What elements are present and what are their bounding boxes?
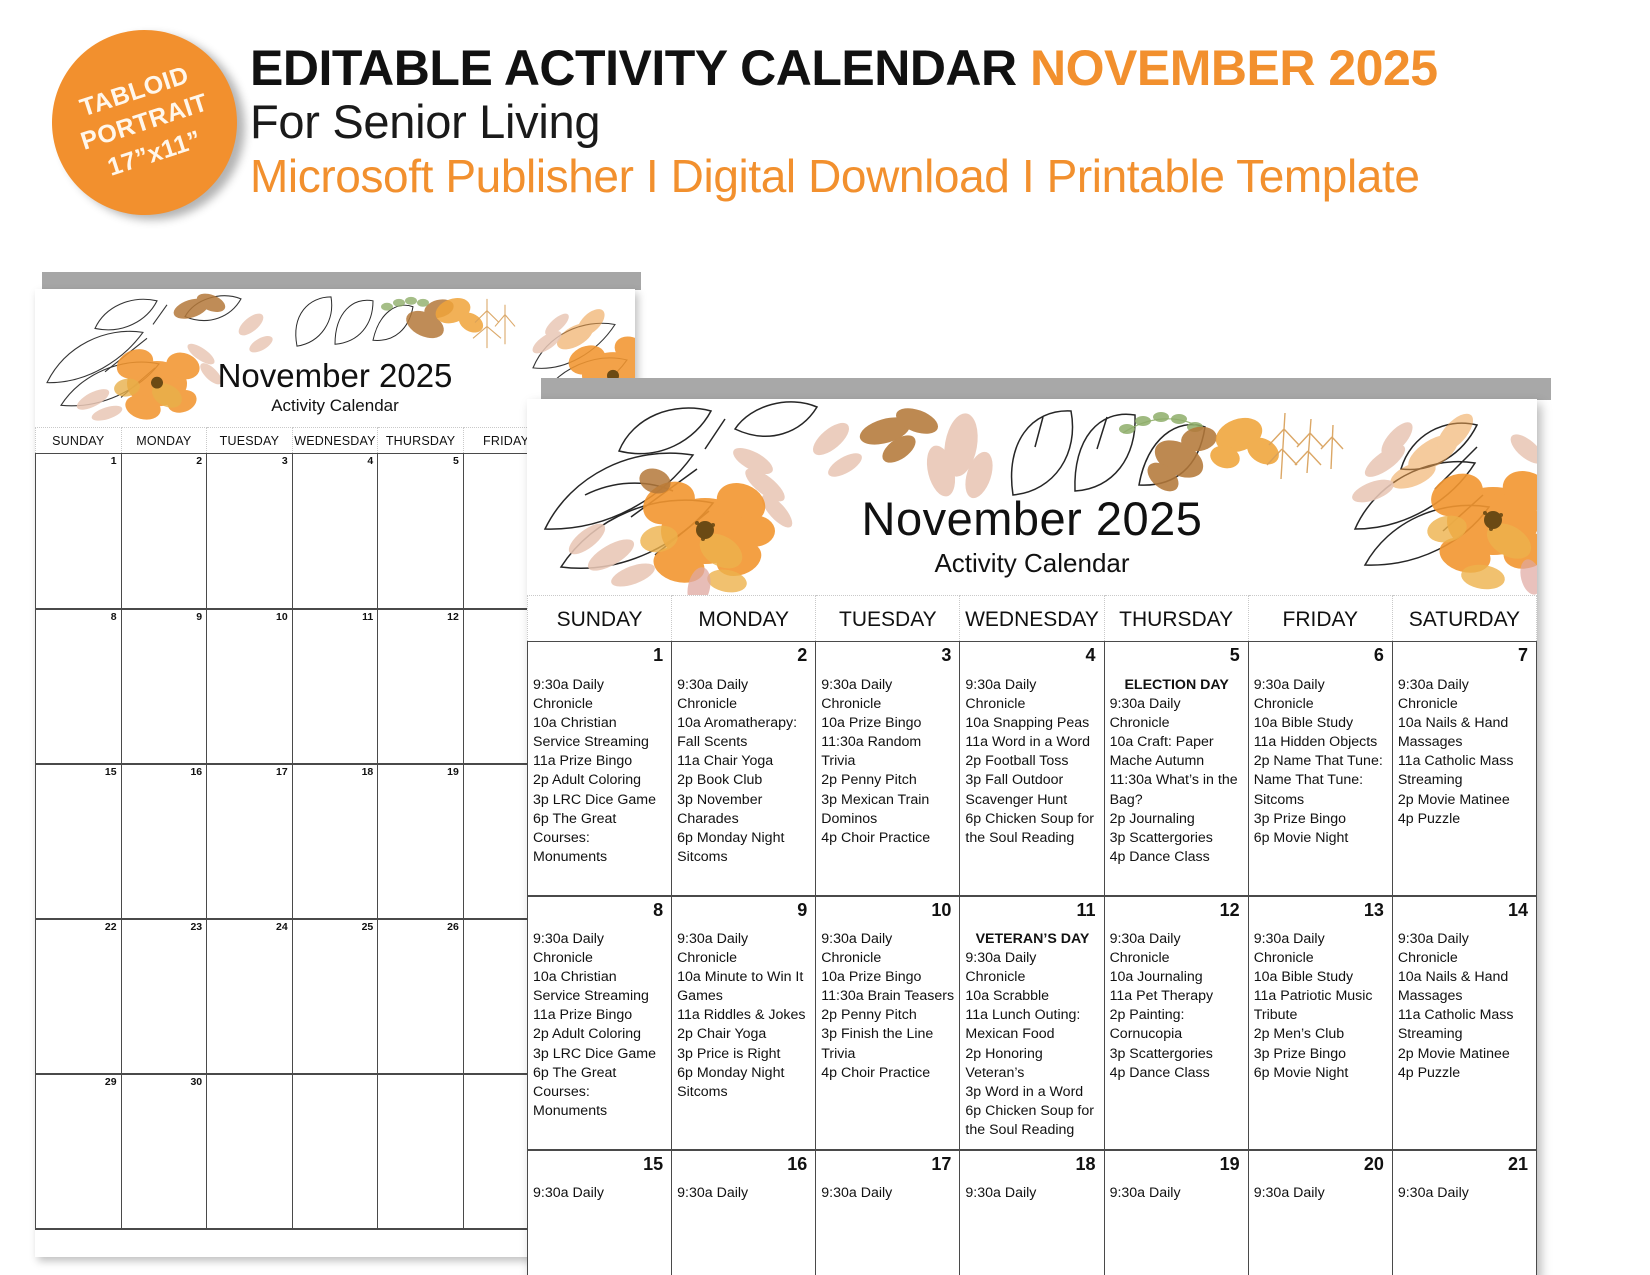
activity-entry[interactable]: 11a Patriotic Music Tribute [1254, 987, 1388, 1025]
activity-entry[interactable]: 2p Painting: Cornucopia [1110, 1006, 1244, 1044]
activity-entry[interactable]: 11a Prize Bingo [533, 1006, 667, 1025]
activity-entry[interactable]: 2p Chair Yoga [677, 1025, 811, 1044]
activity-entry[interactable]: 11a Prize Bingo [533, 752, 667, 771]
back-day-number: 19 [378, 764, 464, 781]
activity-entry[interactable]: 9:30a Daily [677, 1184, 811, 1203]
week-number-row: 1234567 [528, 642, 1537, 672]
back-day-number: 26 [378, 919, 464, 936]
activity-entry[interactable]: 3p November Charades [677, 791, 811, 829]
activity-entry[interactable]: 4p Puzzle [1398, 1064, 1532, 1083]
activity-entry[interactable]: 4p Choir Practice [821, 829, 955, 848]
back-day-number: 12 [378, 609, 464, 626]
back-weekday-tuesday: TUESDAY [207, 428, 293, 454]
day-cell-5[interactable]: ELECTION DAY9:30a Daily Chronicle10a Cra… [1104, 672, 1248, 896]
activity-entry[interactable]: 9:30a Daily [1254, 1184, 1388, 1203]
holiday-label: VETERAN’S DAY [965, 930, 1099, 949]
activity-entry[interactable]: 3p Word in a Word [965, 1083, 1099, 1102]
activity-entry[interactable]: 9:30a Daily Chronicle [965, 676, 1099, 714]
activity-entry[interactable]: 2p Book Club [677, 771, 811, 790]
promo-banner: TABLOID PORTRAIT 17”x11” EDITABLE ACTIVI… [0, 0, 1650, 245]
day-number-6: 6 [1248, 642, 1392, 672]
back-day-number: 11 [292, 609, 378, 626]
activity-entry[interactable]: 10a Nails & Hand Massages [1398, 714, 1532, 752]
activity-entry[interactable]: 3p LRC Dice Game [533, 1045, 667, 1064]
activity-entry[interactable]: 9:30a Daily [1398, 1184, 1532, 1203]
day-cell-20[interactable]: 9:30a Daily [1248, 1180, 1392, 1275]
activity-entry[interactable]: 9:30a Daily [1110, 1184, 1244, 1203]
day-cell-16[interactable]: 9:30a Daily [672, 1180, 816, 1275]
day-number-10: 10 [816, 896, 960, 926]
weekday-wednesday: WEDNESDAY [960, 596, 1104, 642]
activity-entry[interactable]: 4p Dance Class [1110, 1064, 1244, 1083]
weekday-sunday: SUNDAY [528, 596, 672, 642]
activity-entry[interactable]: 2p Journaling [1110, 810, 1244, 829]
activity-entry[interactable]: 2p Football Toss [965, 752, 1099, 771]
week-body-row: 9:30a Daily Chronicle10a Christian Servi… [528, 926, 1537, 1150]
activity-entry[interactable]: 6p The Great Courses: Monuments [533, 1064, 667, 1122]
weekday-thursday: THURSDAY [1104, 596, 1248, 642]
activity-entry[interactable]: 3p Fall Outdoor Scavenger Hunt [965, 771, 1099, 809]
day-cell-14[interactable]: 9:30a Daily Chronicle10a Nails & Hand Ma… [1392, 926, 1536, 1150]
back-day-cell[interactable] [36, 471, 122, 609]
activity-entry[interactable]: 9:30a Daily [533, 1184, 667, 1203]
activity-entry[interactable]: 6p Monday Night Sitcoms [677, 1064, 811, 1102]
activity-calendar-grid: SUNDAYMONDAYTUESDAYWEDNESDAYTHURSDAYFRID… [527, 595, 1537, 1275]
holiday-label: ELECTION DAY [1110, 676, 1244, 695]
day-number-7: 7 [1392, 642, 1536, 672]
day-cell-19[interactable]: 9:30a Daily [1104, 1180, 1248, 1275]
activity-entry[interactable]: 11:30a Brain Teasers [821, 987, 955, 1006]
day-cell-9[interactable]: 9:30a Daily Chronicle10a Minute to Win I… [672, 926, 816, 1150]
day-cell-10[interactable]: 9:30a Daily Chronicle10a Prize Bingo11:3… [816, 926, 960, 1150]
activity-entry[interactable]: 9:30a Daily Chronicle [1398, 676, 1532, 714]
back-day-cell[interactable] [121, 1091, 207, 1229]
activity-entry[interactable]: 3p Prize Bingo [1254, 810, 1388, 829]
activity-entry[interactable]: 6p Movie Night [1254, 1064, 1388, 1083]
day-cell-11[interactable]: VETERAN’S DAY9:30a Daily Chronicle10a Sc… [960, 926, 1104, 1150]
back-day-cell[interactable] [378, 936, 464, 1074]
main-page-top-edge-shade [541, 378, 1551, 400]
back-day-cell[interactable] [292, 626, 378, 764]
activity-entry[interactable]: 3p Scattergories [1110, 829, 1244, 848]
day-number-16: 16 [672, 1150, 816, 1180]
promo-subtitle: For Senior Living [250, 95, 1640, 150]
activity-entry[interactable]: 3p Mexican Train Dominos [821, 791, 955, 829]
week-body-row: 9:30a Daily Chronicle10a Christian Servi… [528, 672, 1537, 896]
day-number-17: 17 [816, 1150, 960, 1180]
activity-entry[interactable]: 10a Bible Study [1254, 714, 1388, 733]
activity-entry[interactable]: 9:30a Daily Chronicle [1110, 930, 1244, 968]
activity-entry[interactable]: 2p Honoring Veteran’s [965, 1045, 1099, 1083]
activity-entry[interactable]: 9:30a Daily Chronicle [1254, 676, 1388, 714]
day-cell-4[interactable]: 9:30a Daily Chronicle10a Snapping Peas11… [960, 672, 1104, 896]
day-cell-8[interactable]: 9:30a Daily Chronicle10a Christian Servi… [528, 926, 672, 1150]
activity-entry[interactable]: 2p Name That Tune: Name That Tune: Sitco… [1254, 752, 1388, 810]
day-cell-13[interactable]: 9:30a Daily Chronicle10a Bible Study11a … [1248, 926, 1392, 1150]
weekday-friday: FRIDAY [1248, 596, 1392, 642]
back-day-cell[interactable] [36, 626, 122, 764]
activity-entry[interactable]: 2p Movie Matinee [1398, 1045, 1532, 1064]
format-badge: TABLOID PORTRAIT 17”x11” [28, 6, 261, 239]
back-day-cell[interactable] [378, 471, 464, 609]
activity-entry[interactable]: 10a Craft: Paper Mache Autumn [1110, 733, 1244, 771]
activity-entry[interactable]: 10a Nails & Hand Massages [1398, 968, 1532, 1006]
activity-entry[interactable]: 6p Chicken Soup for the Soul Reading [965, 1102, 1099, 1140]
day-number-3: 3 [816, 642, 960, 672]
activity-entry[interactable]: 9:30a Daily Chronicle [821, 930, 955, 968]
activity-entry[interactable]: 6p Chicken Soup for the Soul Reading [965, 810, 1099, 848]
weekday-saturday: SATURDAY [1392, 596, 1536, 642]
activity-entry[interactable]: 2p Adult Coloring [533, 1025, 667, 1044]
activity-entry[interactable]: 10a Minute to Win It Games [677, 968, 811, 1006]
activity-entry[interactable]: 11a Pet Therapy [1110, 987, 1244, 1006]
promo-title-dark: EDITABLE ACTIVITY CALENDAR [250, 40, 1017, 96]
activity-entry[interactable]: 9:30a Daily [965, 1184, 1099, 1203]
back-day-cell[interactable] [207, 781, 293, 919]
week-number-row: 15161718192021 [528, 1150, 1537, 1180]
activity-entry[interactable]: 11a Word in a Word [965, 733, 1099, 752]
back-day-number: 17 [207, 764, 293, 781]
activity-entry[interactable]: 10a Christian Service Streaming [533, 968, 667, 1006]
weekday-monday: MONDAY [672, 596, 816, 642]
day-number-20: 20 [1248, 1150, 1392, 1180]
back-day-number: 4 [292, 454, 378, 471]
floral-header-band-front: November 2025 Activity Calendar [527, 399, 1537, 595]
activity-entry[interactable]: 2p Penny Pitch [821, 771, 955, 790]
activity-entry[interactable]: 9:30a Daily [821, 1184, 955, 1203]
day-number-1: 1 [528, 642, 672, 672]
back-day-number: 30 [121, 1074, 207, 1091]
back-day-cell[interactable] [292, 781, 378, 919]
back-day-cell[interactable] [36, 936, 122, 1074]
day-number-11: 11 [960, 896, 1104, 926]
day-cell-2[interactable]: 9:30a Daily Chronicle10a Aromatherapy: F… [672, 672, 816, 896]
back-day-number: 5 [378, 454, 464, 471]
activity-entry[interactable]: 9:30a Daily Chronicle [1398, 930, 1532, 968]
activity-entry[interactable]: 10a Journaling [1110, 968, 1244, 987]
activity-entry[interactable]: 11a Lunch Outing: Mexican Food [965, 1006, 1099, 1044]
day-cell-1[interactable]: 9:30a Daily Chronicle10a Christian Servi… [528, 672, 672, 896]
day-number-4: 4 [960, 642, 1104, 672]
activity-entry[interactable]: 4p Dance Class [1110, 848, 1244, 867]
activity-entry[interactable]: 10a Prize Bingo [821, 968, 955, 987]
back-day-number [292, 1074, 378, 1091]
activity-entry[interactable]: 3p Finish the Line Trivia [821, 1025, 955, 1063]
day-number-5: 5 [1104, 642, 1248, 672]
day-number-15: 15 [528, 1150, 672, 1180]
back-day-cell[interactable] [207, 626, 293, 764]
activity-entry[interactable]: 10a Aromatherapy: Fall Scents [677, 714, 811, 752]
activity-entry[interactable]: 2p Adult Coloring [533, 771, 667, 790]
day-cell-17[interactable]: 9:30a Daily [816, 1180, 960, 1275]
activity-entry[interactable]: 4p Choir Practice [821, 1064, 955, 1083]
activity-entry[interactable]: 11a Hidden Objects [1254, 733, 1388, 752]
back-day-number [378, 1074, 464, 1091]
back-day-number: 1 [36, 454, 122, 471]
back-day-number: 22 [36, 919, 122, 936]
floral-artwork-front [527, 399, 1537, 595]
main-calendar-page: November 2025 Activity Calendar SUNDAYMO… [527, 378, 1552, 1275]
back-day-cell[interactable] [207, 471, 293, 609]
back-day-number: 23 [121, 919, 207, 936]
activity-entry[interactable]: 11a Riddles & Jokes [677, 1006, 811, 1025]
back-day-cell[interactable] [121, 626, 207, 764]
back-day-cell[interactable] [207, 1091, 293, 1229]
back-day-cell[interactable] [378, 626, 464, 764]
day-cell-15[interactable]: 9:30a Daily [528, 1180, 672, 1275]
back-day-cell[interactable] [121, 781, 207, 919]
back-day-number: 15 [36, 764, 122, 781]
day-cell-18[interactable]: 9:30a Daily [960, 1180, 1104, 1275]
back-day-cell[interactable] [36, 1091, 122, 1229]
activity-entry[interactable]: 3p LRC Dice Game [533, 791, 667, 810]
back-day-cell[interactable] [121, 471, 207, 609]
activity-entry[interactable]: 6p Movie Night [1254, 829, 1388, 848]
activity-entry[interactable]: 10a Scrabble [965, 987, 1099, 1006]
activity-entry[interactable]: 2p Movie Matinee [1398, 791, 1532, 810]
back-weekday-wednesday: WEDNESDAY [292, 428, 378, 454]
activity-entry[interactable]: 11a Chair Yoga [677, 752, 811, 771]
weekday-tuesday: TUESDAY [816, 596, 960, 642]
back-day-number: 2 [121, 454, 207, 471]
activity-entry[interactable]: 9:30a Daily Chronicle [533, 676, 667, 714]
promo-title-accent: NOVEMBER 2025 [1030, 40, 1438, 96]
back-day-number: 29 [36, 1074, 122, 1091]
activity-entry[interactable]: 11a Catholic Mass Streaming [1398, 752, 1532, 790]
day-number-19: 19 [1104, 1150, 1248, 1180]
activity-entry[interactable]: 9:30a Daily Chronicle [677, 930, 811, 968]
activity-entry[interactable]: 3p Price is Right [677, 1045, 811, 1064]
main-calendar-sheet: November 2025 Activity Calendar SUNDAYMO… [527, 399, 1537, 1275]
activity-entry[interactable]: 9:30a Daily Chronicle [821, 676, 955, 714]
activity-entry[interactable]: 10a Christian Service Streaming [533, 714, 667, 752]
activity-entry[interactable]: 11a Catholic Mass Streaming [1398, 1006, 1532, 1044]
activity-entry[interactable]: 9:30a Daily Chronicle [677, 676, 811, 714]
day-number-13: 13 [1248, 896, 1392, 926]
back-day-number: 3 [207, 454, 293, 471]
activity-entry[interactable]: 11:30a What’s in the Bag? [1110, 771, 1244, 809]
back-weekday-thursday: THURSDAY [378, 428, 464, 454]
activity-entry[interactable]: 9:30a Daily Chronicle [965, 949, 1099, 987]
day-number-18: 18 [960, 1150, 1104, 1180]
day-number-12: 12 [1104, 896, 1248, 926]
activity-entry[interactable]: 3p Scattergories [1110, 1045, 1244, 1064]
day-number-14: 14 [1392, 896, 1536, 926]
day-number-8: 8 [528, 896, 672, 926]
activity-entry[interactable]: 6p Monday Night Sitcoms [677, 829, 811, 867]
day-cell-6[interactable]: 9:30a Daily Chronicle10a Bible Study11a … [1248, 672, 1392, 896]
back-weekday-monday: MONDAY [121, 428, 207, 454]
activity-entry[interactable]: 10a Bible Study [1254, 968, 1388, 987]
calendar-body: 12345679:30a Daily Chronicle10a Christia… [528, 642, 1537, 1275]
back-day-cell[interactable] [36, 781, 122, 919]
back-day-number: 10 [207, 609, 293, 626]
page-top-edge-shade [42, 272, 641, 290]
activity-entry[interactable]: 10a Prize Bingo [821, 714, 955, 733]
day-cell-21[interactable]: 9:30a Daily [1392, 1180, 1536, 1275]
back-day-cell[interactable] [292, 1091, 378, 1229]
week-body-row: 9:30a Daily9:30a Daily9:30a Daily9:30a D… [528, 1180, 1537, 1275]
back-day-number: 16 [121, 764, 207, 781]
day-number-9: 9 [672, 896, 816, 926]
activity-entry[interactable]: 9:30a Daily Chronicle [1110, 695, 1244, 733]
back-day-cell[interactable] [292, 471, 378, 609]
activity-entry[interactable]: 3p Prize Bingo [1254, 1045, 1388, 1064]
back-day-number: 18 [292, 764, 378, 781]
activity-entry[interactable]: 9:30a Daily Chronicle [1254, 930, 1388, 968]
day-cell-12[interactable]: 9:30a Daily Chronicle10a Journaling11a P… [1104, 926, 1248, 1150]
activity-entry[interactable]: 9:30a Daily Chronicle [533, 930, 667, 968]
activity-entry[interactable]: 2p Penny Pitch [821, 1006, 955, 1025]
activity-entry[interactable]: 6p The Great Courses: Monuments [533, 810, 667, 868]
back-day-number: 8 [36, 609, 122, 626]
back-day-number [207, 1074, 293, 1091]
day-cell-3[interactable]: 9:30a Daily Chronicle10a Prize Bingo11:3… [816, 672, 960, 896]
back-day-cell[interactable] [207, 936, 293, 1074]
activity-entry[interactable]: 11:30a Random Trivia [821, 733, 955, 771]
promo-title-line: EDITABLE ACTIVITY CALENDAR NOVEMBER 2025 [250, 42, 1640, 95]
back-day-number: 25 [292, 919, 378, 936]
back-day-cell[interactable] [121, 936, 207, 1074]
back-day-cell[interactable] [378, 1091, 464, 1229]
back-day-cell[interactable] [378, 781, 464, 919]
promo-headline-block: EDITABLE ACTIVITY CALENDAR NOVEMBER 2025… [250, 42, 1640, 203]
weekday-header-row: SUNDAYMONDAYTUESDAYWEDNESDAYTHURSDAYFRID… [528, 596, 1537, 642]
back-weekday-sunday: SUNDAY [36, 428, 122, 454]
week-number-row: 891011121314 [528, 896, 1537, 926]
promo-tagline: Microsoft Publisher I Digital Download I… [250, 150, 1640, 203]
day-number-21: 21 [1392, 1150, 1536, 1180]
activity-entry[interactable]: 2p Men’s Club [1254, 1025, 1388, 1044]
activity-entry[interactable]: 4p Puzzle [1398, 810, 1532, 829]
back-day-number: 9 [121, 609, 207, 626]
back-day-cell[interactable] [292, 936, 378, 1074]
day-number-2: 2 [672, 642, 816, 672]
back-day-number: 24 [207, 919, 293, 936]
screenshot-stage: TABLOID PORTRAIT 17”x11” EDITABLE ACTIVI… [0, 0, 1650, 1275]
activity-entry[interactable]: 10a Snapping Peas [965, 714, 1099, 733]
day-cell-7[interactable]: 9:30a Daily Chronicle10a Nails & Hand Ma… [1392, 672, 1536, 896]
